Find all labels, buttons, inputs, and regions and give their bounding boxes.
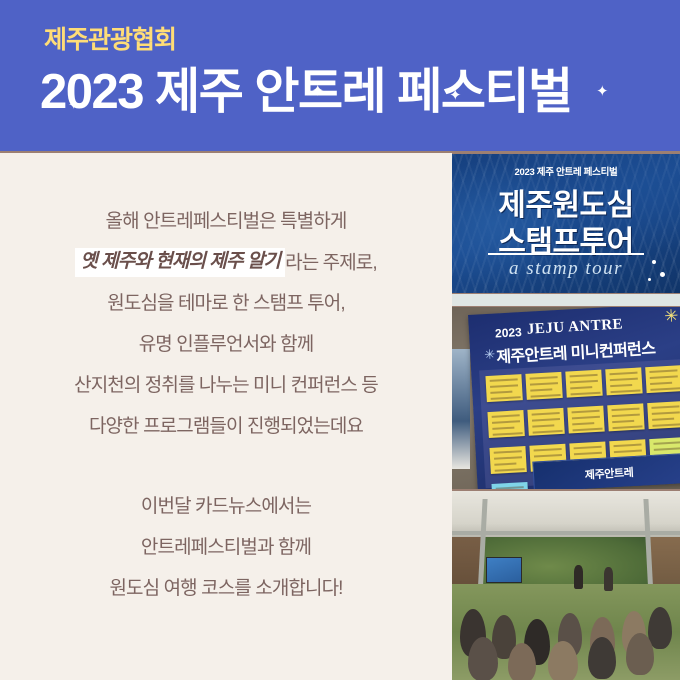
speaker-person — [604, 567, 613, 591]
photo-outdoor-conference — [452, 490, 680, 680]
text-line: 올해 안트레페스티벌은 특별하게 — [0, 201, 452, 242]
photo-mini-conference-board: ✳ ✳ 2023 JEJU ANTRE 제주안트레 미니컨퍼런스 제주안트레 — [452, 306, 680, 490]
text-line-highlight: 옛 제주와 현재의 제주 알기라는 주제로, — [0, 242, 452, 283]
text-line: 유명 인플루언서와 함께 — [0, 324, 452, 365]
sticky-note — [527, 408, 564, 436]
star-icon: ✳ — [484, 348, 496, 362]
dot-decoration-icon — [660, 272, 665, 277]
dot-decoration-icon — [648, 278, 651, 281]
poster-script-text: a stamp tour — [452, 258, 680, 280]
sticky-note — [487, 410, 524, 438]
highlight-tail-text: 라는 주제로, — [285, 252, 377, 273]
poster-kicker-text: 2023 제주 안트레 페스티벌 — [452, 164, 680, 178]
highlighted-theme: 옛 제주와 현재의 제주 알기 — [75, 248, 285, 277]
body-text-column: 올해 안트레페스티벌은 특별하게 옛 제주와 현재의 제주 알기라는 주제로, … — [0, 153, 452, 680]
audience-person — [648, 607, 672, 649]
sticky-note — [489, 446, 526, 474]
board-bottom-banner-text: 제주안트레 — [534, 461, 680, 485]
paragraph-intro: 올해 안트레페스티벌은 특별하게 옛 제주와 현재의 제주 알기라는 주제로, … — [0, 201, 452, 447]
audience-person — [588, 637, 616, 679]
sticky-note — [567, 406, 604, 434]
sticky-note — [607, 403, 644, 431]
header-banner: 제주관광협회 2023 제주 안트레 페스티벌 ✦ ✦ ✦ ✦ — [0, 0, 680, 152]
sparkle-icon: ✦ — [596, 84, 609, 99]
text-line: 원도심을 테마로 한 스탬프 투어, — [0, 283, 452, 324]
sticky-note — [485, 374, 522, 402]
sticky-note — [525, 372, 562, 400]
festival-title: 2023 제주 안트레 페스티벌 — [40, 64, 572, 120]
text-line: 산지천의 정취를 나누는 미니 컨퍼런스 등 — [0, 365, 452, 406]
poster-underline — [488, 253, 644, 255]
sticky-note — [647, 401, 680, 429]
card-news-slide: 제주관광협회 2023 제주 안트레 페스티벌 ✦ ✦ ✦ ✦ 올해 안트레페스… — [0, 0, 680, 680]
photo-stamp-tour-poster: 2023 제주 안트레 페스티벌 제주원도심 스탬프투어 a stamp tou… — [452, 153, 680, 294]
organization-name: 제주관광협회 — [44, 28, 176, 53]
wall-photo-decoration — [452, 349, 470, 469]
speaker-person — [574, 565, 583, 589]
firework-icon: ✳ — [664, 307, 679, 325]
board-title-english: JEJU ANTRE — [526, 316, 623, 338]
presentation-screen — [486, 557, 522, 583]
board-year-label: 2023 — [495, 325, 522, 340]
text-line: 안트레페스티벌과 함께 — [0, 527, 452, 568]
conference-board-panel: ✳ ✳ 2023 JEJU ANTRE 제주안트레 미니컨퍼런스 제주안트레 — [468, 306, 680, 490]
audience-person — [626, 633, 654, 675]
sticky-note — [565, 370, 602, 398]
sticky-note — [605, 367, 642, 395]
text-line: 다양한 프로그램들이 진행되었는데요 — [0, 406, 452, 447]
paragraph-outro: 이번달 카드뉴스에서는 안트레페스티벌과 함께 원도심 여행 코스를 소개합니다… — [0, 486, 452, 609]
text-line: 이번달 카드뉴스에서는 — [0, 486, 452, 527]
canopy-beam-crossbar — [452, 531, 680, 535]
dot-decoration-icon — [652, 260, 656, 264]
text-line: 원도심 여행 코스를 소개합니다! — [0, 568, 452, 609]
sticky-note — [491, 482, 528, 490]
photo-column: 2023 제주 안트레 페스티벌 제주원도심 스탬프투어 a stamp tou… — [452, 153, 680, 680]
sticky-note — [645, 365, 680, 393]
